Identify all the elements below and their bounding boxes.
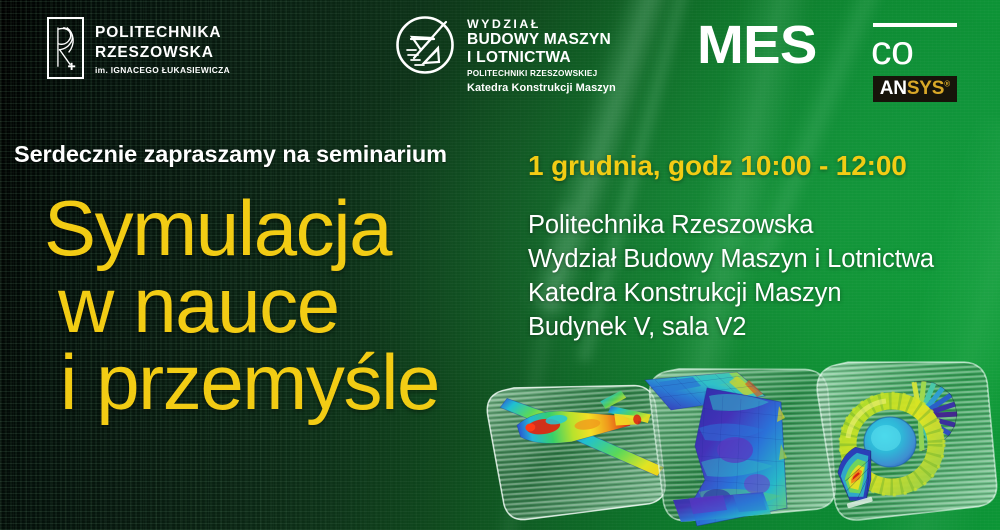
turbine-bladed-disk-simulation xyxy=(808,348,1000,530)
mesco-wordmark: MES co xyxy=(697,18,959,73)
seminar-poster: POLITECHNIKA RZESZOWSKA im. IGNACEGO ŁUK… xyxy=(0,0,1000,530)
politechnika-rzeszowska-emblem-icon xyxy=(47,17,84,79)
page-title: Symulacja w nauce i przemyśle xyxy=(44,190,439,422)
title-line-2: w nauce xyxy=(58,267,439,344)
wydzial-wordmark: WYDZIAŁ BUDOWY MASZYN I LOTNICTWA POLITE… xyxy=(467,14,616,94)
structural-fea-simulation xyxy=(643,336,853,530)
title-line-1: Symulacja xyxy=(44,190,439,267)
event-venue: Politechnika Rzeszowska Wydział Budowy M… xyxy=(528,209,934,345)
venue-line: Budynek V, sala V2 xyxy=(528,311,934,345)
title-line-3: i przemyśle xyxy=(60,344,439,421)
ansys-trademark-symbol: ® xyxy=(944,80,950,89)
logo-line: I LOTNICTWA xyxy=(467,49,616,67)
logo-line: POLITECHNIKA xyxy=(95,23,230,43)
logo-line: BUDOWY MASZYN xyxy=(467,31,616,49)
ansys-sys-text: SYS xyxy=(907,78,944,99)
venue-line: Wydział Budowy Maszyn i Lotnictwa xyxy=(528,243,934,277)
logo-subtitle: POLITECHNIKI RZESZOWSKIEJ xyxy=(467,69,616,78)
mesco-co-text: co xyxy=(871,29,913,72)
invitation-text: Serdecznie zapraszamy na seminarium xyxy=(14,141,447,168)
aircraft-cfd-simulation xyxy=(476,376,686,530)
logo-line: WYDZIAŁ xyxy=(467,17,616,31)
ansys-partner-badge: ANSYS® xyxy=(873,76,957,102)
logo-mesco: MES co ANSYS® xyxy=(697,18,959,73)
logo-politechnika-rzeszowska: POLITECHNIKA RZESZOWSKA im. IGNACEGO ŁUK… xyxy=(47,17,230,79)
logo-line: RZESZOWSKA xyxy=(95,43,230,63)
venue-line: Katedra Konstrukcji Maszyn xyxy=(528,277,934,311)
logo-wydzial-budowy-maszyn: WYDZIAŁ BUDOWY MASZYN I LOTNICTWA POLITE… xyxy=(394,14,616,94)
mesco-mes-text: MES xyxy=(697,18,817,73)
logo-row: POLITECHNIKA RZESZOWSKA im. IGNACEGO ŁUK… xyxy=(0,0,1000,110)
politechnika-rzeszowska-wordmark: POLITECHNIKA RZESZOWSKA im. IGNACEGO ŁUK… xyxy=(95,17,230,75)
ansys-an-text: AN xyxy=(880,78,907,99)
venue-line: Politechnika Rzeszowska xyxy=(528,209,934,243)
event-datetime: 1 grudnia, godz 10:00 - 12:00 xyxy=(528,150,907,182)
airplane-in-circle-icon xyxy=(394,14,456,76)
logo-department: Katedra Konstrukcji Maszyn xyxy=(467,82,616,94)
logo-subtitle: im. IGNACEGO ŁUKASIEWICZA xyxy=(95,65,230,75)
